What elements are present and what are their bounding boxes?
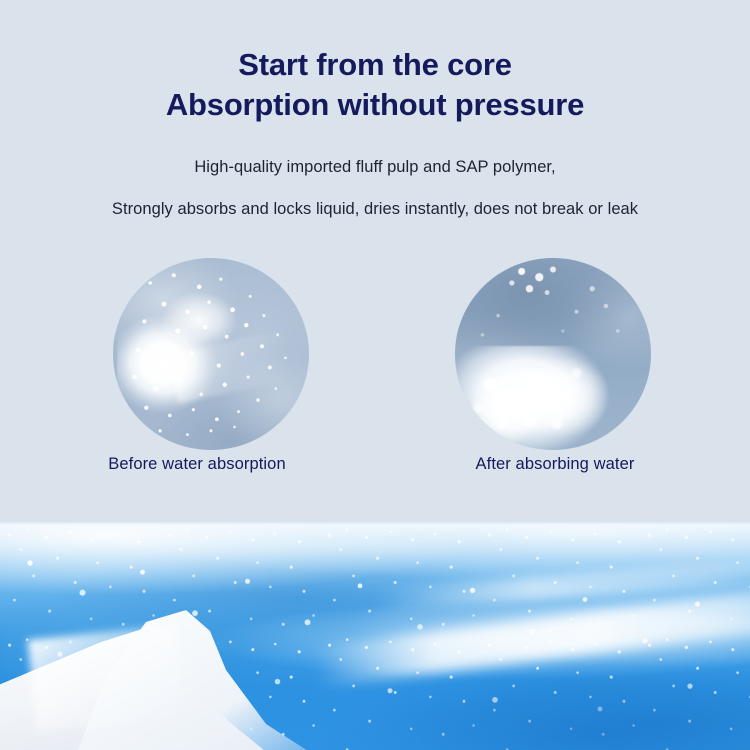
product-feature-panel: Start from the core Absorption without p… <box>0 0 750 750</box>
caption-before-absorption: Before water absorption <box>47 455 347 474</box>
comparison-item-before <box>113 258 309 450</box>
comparison-item-after <box>455 258 651 450</box>
headline-line-1: Start from the core <box>0 45 750 85</box>
moisture-droplets <box>455 258 651 450</box>
nonwoven-fabric-fold <box>0 610 400 750</box>
headline-line-2: Absorption without pressure <box>0 85 750 125</box>
page-title: Start from the core Absorption without p… <box>0 45 750 125</box>
caption-after-absorption: After absorbing water <box>405 455 705 474</box>
subheading-line-1: High-quality imported fluff pulp and SAP… <box>0 156 750 178</box>
swollen-sap-gel-swatch <box>455 258 651 450</box>
absorbent-core-gel-closeup <box>0 522 750 750</box>
fabric-fold-highlight <box>28 624 187 731</box>
dry-sap-granules-swatch <box>113 258 309 450</box>
photo-top-seam <box>0 522 750 525</box>
subheading-line-2: Strongly absorbs and locks liquid, dries… <box>0 198 750 220</box>
comparison-swatch-row <box>0 258 750 450</box>
info-panel: Start from the core Absorption without p… <box>0 0 750 522</box>
